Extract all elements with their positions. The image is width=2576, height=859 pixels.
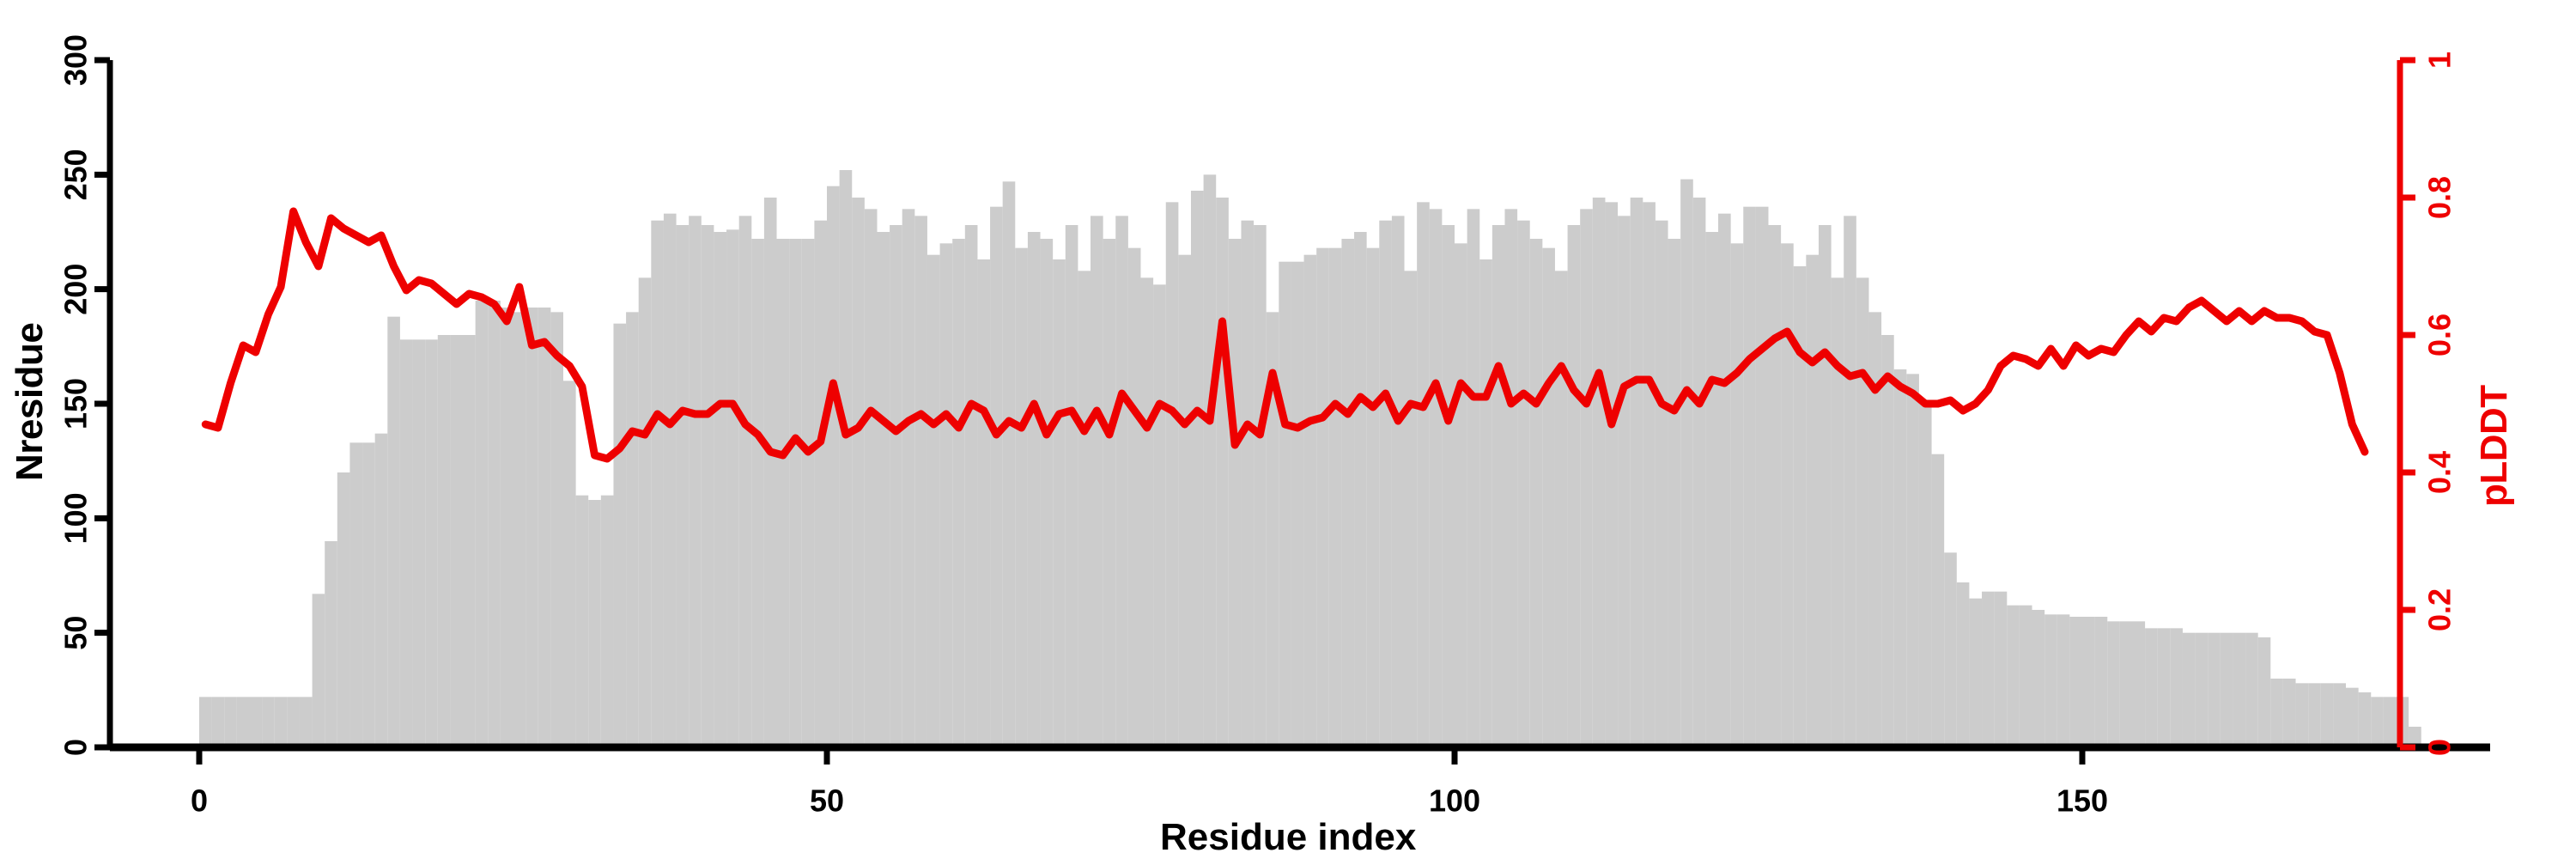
histogram-bar (2245, 633, 2258, 747)
histogram-bar (2145, 628, 2158, 747)
left-axis-tick-label: 100 (58, 492, 94, 544)
histogram-bar (651, 221, 664, 747)
histogram-bar (1618, 216, 1631, 747)
chart-figure: Nresidue pLDDT Residue index 05010015020… (0, 0, 2576, 859)
left-axis-tick-label: 150 (58, 378, 94, 429)
histogram-bar (2183, 633, 2196, 747)
histogram-bar (789, 239, 802, 747)
histogram-bar (476, 301, 489, 747)
histogram-bar (563, 381, 576, 747)
histogram-bar (1291, 262, 1304, 747)
histogram-bars (199, 170, 2421, 747)
histogram-bar (463, 335, 476, 747)
histogram-bar (1367, 248, 1380, 747)
histogram-bar (1656, 221, 1668, 747)
histogram-bar (275, 697, 288, 747)
y-axis-title-right: pLDDT (2473, 385, 2516, 507)
histogram-bar (300, 697, 313, 747)
histogram-bar (1995, 592, 2008, 747)
histogram-bar (877, 232, 890, 747)
histogram-bar (337, 472, 350, 747)
histogram-bar (1593, 198, 1606, 747)
histogram-bar (1216, 198, 1229, 747)
histogram-bar (902, 209, 915, 747)
histogram-bar (2221, 633, 2233, 747)
histogram-bar (400, 339, 413, 747)
histogram-bar (438, 335, 451, 747)
x-axis-tick-label: 150 (2057, 783, 2108, 819)
histogram-bar (890, 225, 902, 747)
histogram-bar (2120, 621, 2133, 747)
histogram-bar (1405, 271, 1418, 747)
x-axis-tick-label: 0 (191, 783, 208, 819)
histogram-bar (2270, 679, 2283, 747)
left-axis-tick-label: 50 (58, 616, 93, 650)
histogram-bar (1718, 214, 1731, 747)
histogram-bar (2082, 617, 2095, 747)
histogram-bar (751, 239, 764, 747)
histogram-bar (1504, 209, 1517, 747)
histogram-bar (1756, 207, 1769, 747)
histogram-bar (1693, 198, 1706, 747)
histogram-bar (2308, 683, 2321, 747)
x-axis-title: Residue index (1160, 816, 1416, 859)
histogram-bar (1442, 225, 1455, 747)
histogram-bar (375, 434, 388, 747)
histogram-bar (224, 697, 237, 747)
histogram-bar (1078, 271, 1091, 747)
bottom-axis: 050100150 (110, 747, 2490, 819)
histogram-bar (1957, 582, 1970, 747)
right-axis: 00.20.40.60.81 (2400, 52, 2458, 756)
histogram-bar (940, 243, 953, 747)
histogram-bar (2208, 633, 2221, 747)
histogram-bar (1417, 202, 1430, 747)
left-axis-tick-label: 250 (58, 149, 94, 200)
histogram-bar (1819, 225, 1832, 747)
histogram-bar (2069, 617, 2082, 747)
right-axis-tick-label: 0.2 (2422, 588, 2458, 631)
histogram-bar (2283, 679, 2296, 747)
histogram-bar (1153, 284, 1166, 747)
histogram-bar (1705, 232, 1718, 747)
histogram-bar (1944, 552, 1957, 747)
left-axis-tick-label: 0 (58, 739, 94, 756)
histogram-bar (1091, 216, 1103, 747)
histogram-bar (538, 308, 551, 747)
histogram-bar (1731, 243, 1744, 747)
histogram-bar (1530, 239, 1543, 747)
x-axis-tick-label: 100 (1429, 783, 1480, 819)
histogram-bar (914, 216, 927, 747)
histogram-bar (1492, 225, 1505, 747)
histogram-bar (1479, 259, 1492, 747)
histogram-bar (1279, 262, 1291, 747)
histogram-bar (2359, 692, 2372, 747)
histogram-bar (1015, 248, 1028, 747)
histogram-bar (1329, 248, 1342, 747)
histogram-bar (965, 225, 978, 747)
histogram-bar (764, 198, 777, 747)
histogram-bar (1605, 202, 1618, 747)
histogram-bar (739, 216, 752, 747)
histogram-bar (1517, 221, 1530, 747)
x-axis-tick-label: 50 (810, 783, 844, 819)
histogram-bar (702, 225, 714, 747)
histogram-bar (1316, 248, 1329, 747)
histogram-bar (714, 232, 726, 747)
histogram-bar (689, 216, 702, 747)
right-axis-tick-label: 0 (2422, 739, 2458, 756)
histogram-bar (1241, 221, 1254, 747)
histogram-bar (1455, 243, 1467, 747)
histogram-bar (425, 339, 438, 747)
histogram-bar (2007, 606, 2020, 747)
histogram-bar (1066, 225, 1078, 747)
histogram-bar (2032, 610, 2045, 747)
histogram-bar (840, 170, 853, 747)
histogram-bar (2296, 683, 2309, 747)
histogram-bar (927, 255, 940, 747)
histogram-bar (588, 500, 601, 747)
histogram-bar (1643, 202, 1656, 747)
histogram-bar (802, 239, 815, 747)
histogram-bar (550, 312, 563, 747)
histogram-bar (2346, 688, 2359, 747)
histogram-bar (2170, 628, 2183, 747)
right-axis-tick-label: 1 (2422, 52, 2458, 69)
histogram-bar (1354, 232, 1367, 747)
histogram-bar (1631, 198, 1643, 747)
histogram-bar (664, 214, 677, 747)
histogram-bar (952, 239, 965, 747)
histogram-bar (1806, 255, 1819, 747)
histogram-bar (1204, 174, 1217, 747)
histogram-bar (212, 697, 225, 747)
histogram-bar (488, 301, 501, 747)
histogram-bar (2371, 697, 2384, 747)
histogram-bar (1053, 259, 1066, 747)
histogram-bar (2158, 628, 2171, 747)
histogram-bar (2044, 614, 2057, 747)
histogram-bar (1832, 277, 1844, 747)
histogram-bar (1003, 181, 1016, 747)
histogram-bar (626, 312, 639, 747)
histogram-bar (1769, 225, 1782, 747)
histogram-bar (1982, 592, 1995, 747)
histogram-bar (387, 317, 400, 747)
histogram-bar (1856, 277, 1869, 747)
histogram-bar (827, 186, 840, 747)
histogram-bar (1743, 207, 1756, 747)
histogram-bar (1580, 209, 1593, 747)
histogram-bar (526, 308, 538, 747)
histogram-bar (1141, 277, 1154, 747)
histogram-bar (990, 207, 1003, 747)
histogram-bar (1844, 216, 1856, 747)
histogram-bar (601, 496, 614, 747)
histogram-bar (1969, 599, 1982, 747)
histogram-bar (1868, 312, 1881, 747)
histogram-bar (325, 541, 337, 747)
histogram-bar (2333, 683, 2346, 747)
histogram-bar (1430, 209, 1443, 747)
histogram-bar (1128, 248, 1141, 747)
histogram-bar (1680, 180, 1693, 747)
histogram-bar (1166, 202, 1179, 747)
left-axis: 050100150200250300 (58, 34, 110, 756)
histogram-bar (349, 442, 362, 747)
histogram-bar (1781, 243, 1794, 747)
histogram-bar (639, 277, 652, 747)
histogram-bar (1103, 239, 1116, 747)
histogram-bar (1392, 216, 1405, 747)
right-axis-tick-label: 0.4 (2422, 451, 2458, 494)
histogram-bar (362, 442, 375, 747)
histogram-bar (1932, 454, 1945, 747)
histogram-bar (977, 259, 990, 747)
histogram-bar (726, 229, 739, 747)
histogram-bar (1254, 225, 1267, 747)
histogram-bar (2057, 614, 2070, 747)
histogram-bar (313, 594, 325, 747)
histogram-bar (513, 312, 526, 747)
histogram-bar (2321, 683, 2334, 747)
histogram-bar (2384, 697, 2397, 747)
histogram-bar (199, 697, 212, 747)
histogram-bar (287, 697, 300, 747)
histogram-bar (1341, 239, 1354, 747)
histogram-bar (1919, 404, 1932, 747)
histogram-bar (576, 496, 589, 747)
histogram-bar (1906, 374, 1919, 747)
histogram-bar (1881, 335, 1894, 747)
histogram-bar (777, 239, 790, 747)
histogram-bar (2233, 633, 2245, 747)
histogram-bar (1555, 271, 1568, 747)
histogram-bar (249, 697, 262, 747)
histogram-bar (814, 221, 827, 747)
histogram-bar (1041, 239, 1054, 747)
histogram-bar (613, 324, 626, 747)
histogram-bar (237, 697, 250, 747)
histogram-bar (1379, 221, 1392, 747)
histogram-bar (1568, 225, 1581, 747)
histogram-bar (262, 697, 275, 747)
left-axis-tick-label: 300 (58, 34, 94, 86)
histogram-bar (2132, 621, 2145, 747)
histogram-bar (2107, 621, 2120, 747)
right-axis-tick-label: 0.6 (2422, 314, 2458, 356)
histogram-bar (2196, 633, 2208, 747)
histogram-bar (677, 225, 690, 747)
histogram-bar (1668, 239, 1681, 747)
right-axis-tick-label: 0.8 (2422, 176, 2458, 219)
histogram-bar (2258, 637, 2271, 747)
histogram-bar (1229, 239, 1242, 747)
histogram-bar (1894, 369, 1907, 747)
histogram-bar (1178, 255, 1191, 747)
histogram-bar (852, 198, 865, 747)
y-axis-title-left: Nresidue (9, 323, 52, 481)
histogram-bar (1115, 216, 1128, 747)
histogram-bar (450, 335, 463, 747)
histogram-bar (413, 339, 426, 747)
histogram-bar (2095, 617, 2108, 747)
histogram-bar (1467, 209, 1480, 747)
histogram-bar (865, 209, 878, 747)
histogram-bar (1028, 232, 1041, 747)
histogram-bar (1542, 248, 1555, 747)
histogram-bar (1191, 191, 1204, 747)
histogram-bar (501, 308, 513, 747)
histogram-bar (2020, 606, 2032, 747)
plot-canvas: 050100150200250300 050100150 00.20.40.60… (0, 0, 2576, 859)
histogram-bar (1304, 255, 1317, 747)
left-axis-tick-label: 200 (58, 264, 93, 315)
